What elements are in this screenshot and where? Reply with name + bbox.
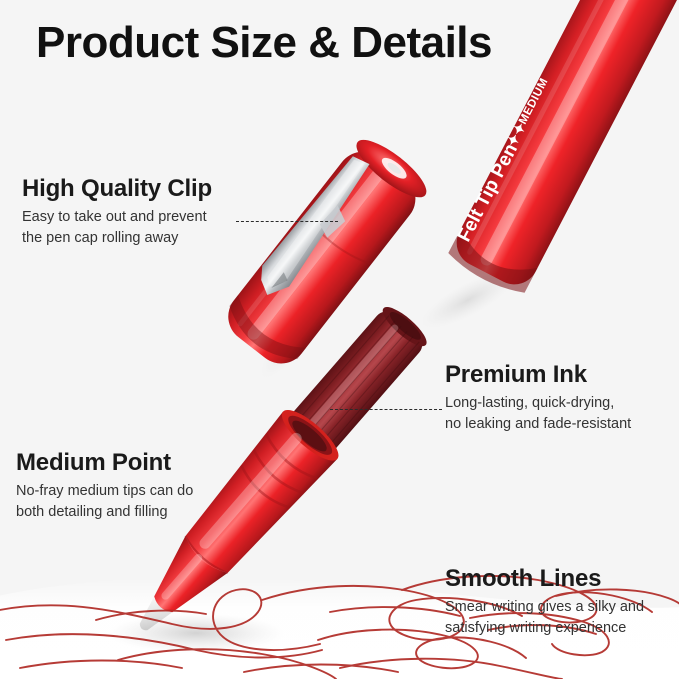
feature-heading-lines: Smooth Lines: [445, 566, 644, 592]
feature-callout-ink: Premium Ink Long-lasting, quick-drying, …: [445, 362, 631, 435]
leader-line-clip: [236, 221, 338, 222]
product-detail-infographic: Felt Tip Pen ✦✦ MEDIUM: [0, 0, 679, 679]
feature-body-ink: Long-lasting, quick-drying, no leaking a…: [445, 393, 631, 435]
leader-line-ink: [330, 409, 442, 410]
feature-heading-clip: High Quality Clip: [22, 176, 212, 202]
page-title: Product Size & Details: [36, 18, 492, 68]
feature-body-lines: Smear writing gives a silky and satisfyi…: [445, 597, 644, 639]
feature-callout-clip: High Quality Clip Easy to take out and p…: [22, 176, 212, 249]
feature-heading-point: Medium Point: [16, 450, 193, 476]
feature-body-point: No-fray medium tips can do both detailin…: [16, 481, 193, 523]
feature-callout-point: Medium Point No-fray medium tips can do …: [16, 450, 193, 523]
feature-callout-lines: Smooth Lines Smear writing gives a silky…: [445, 566, 644, 639]
feature-body-clip: Easy to take out and prevent the pen cap…: [22, 207, 212, 249]
feature-heading-ink: Premium Ink: [445, 362, 631, 388]
